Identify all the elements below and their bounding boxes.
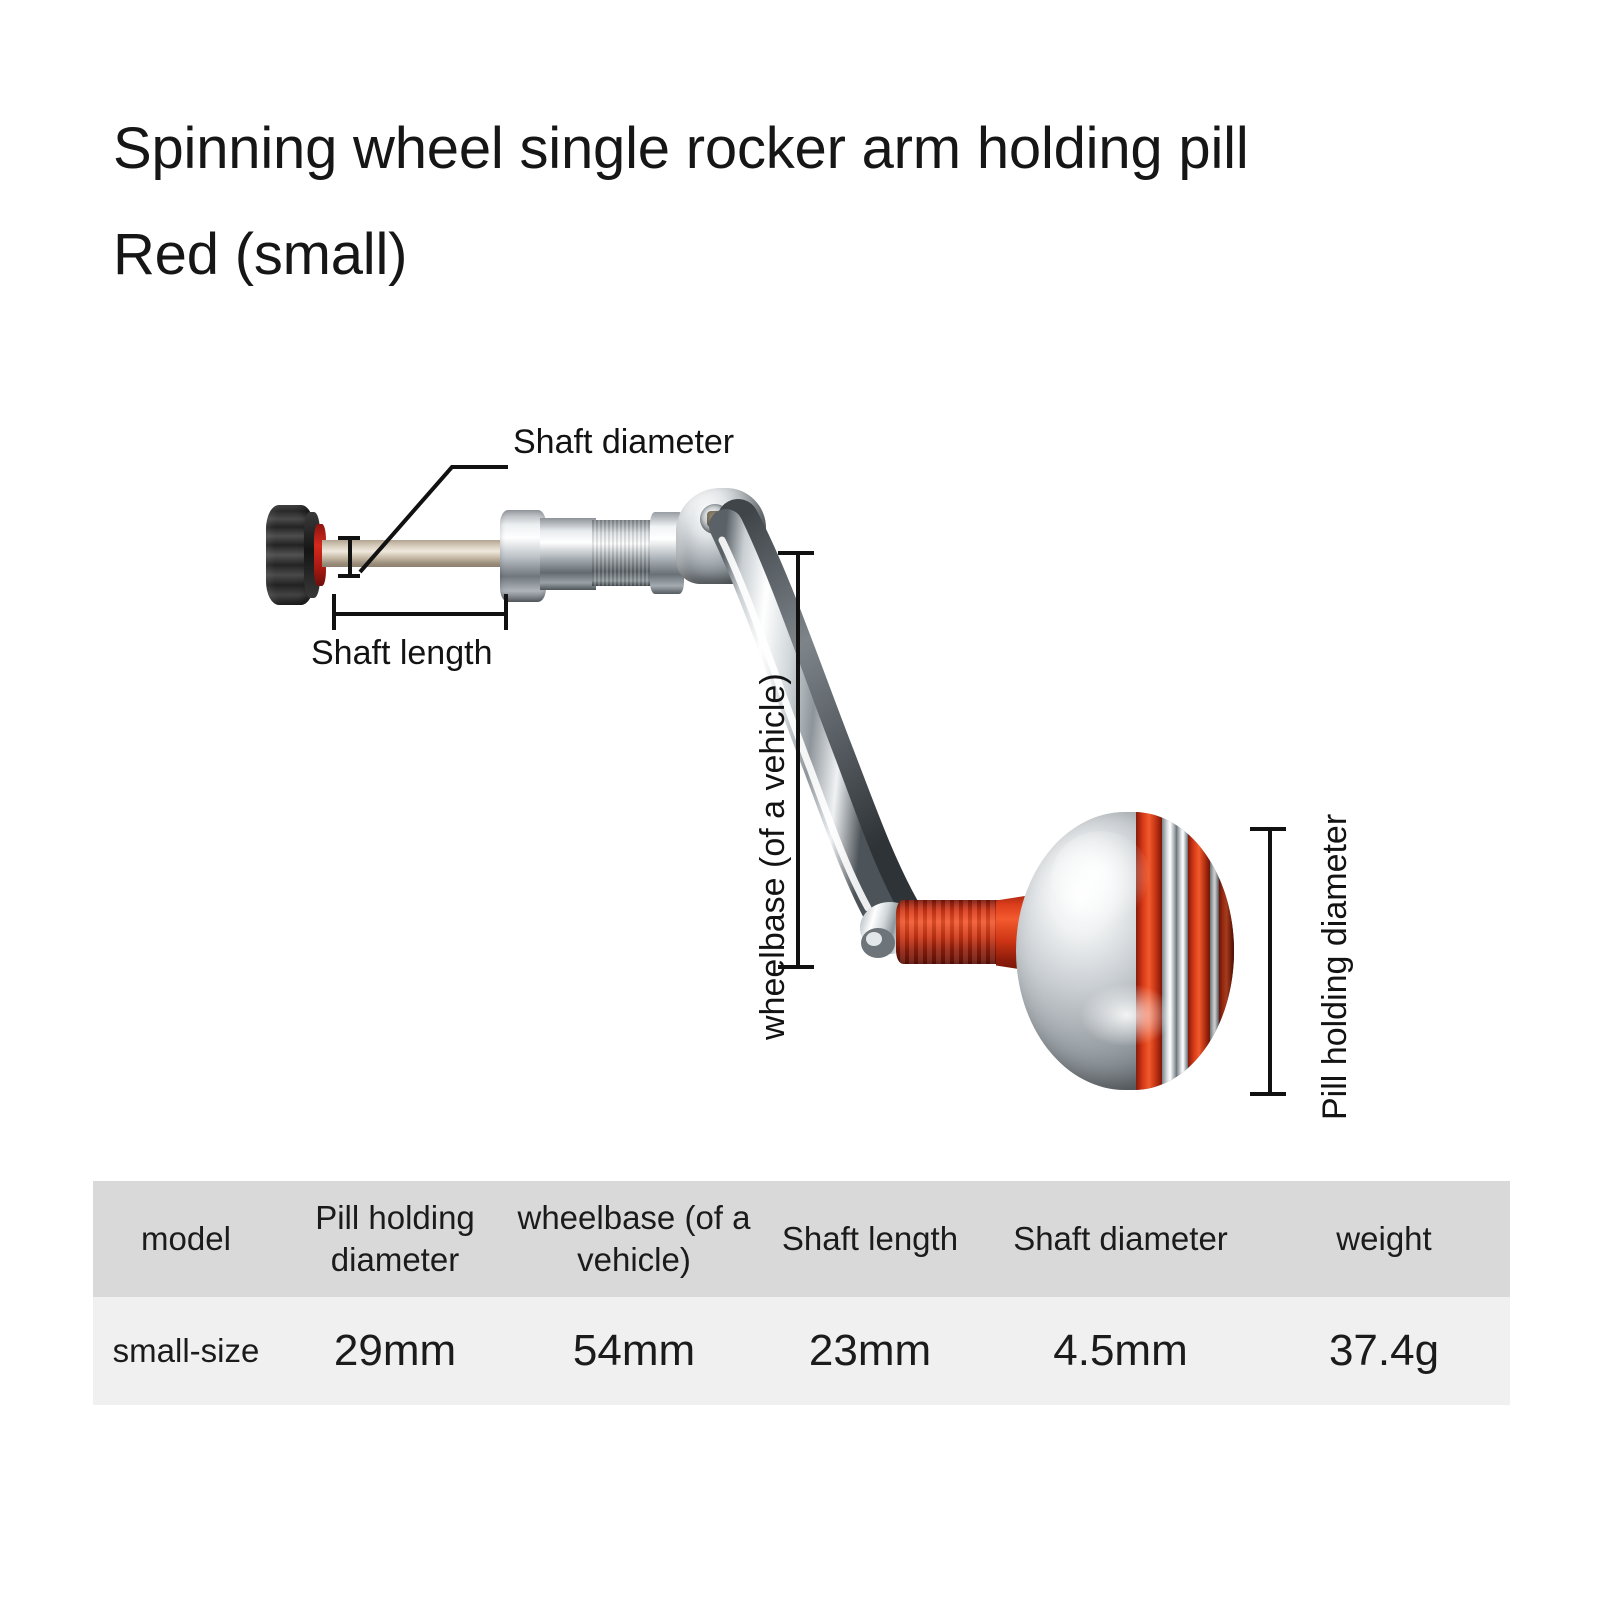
table-header-row: model Pill holding diameter wheelbase (o… [93, 1181, 1510, 1297]
page-title: Spinning wheel single rocker arm holding… [113, 96, 1513, 307]
cell-weight: 37.4g [1258, 1297, 1510, 1405]
page-title-line-2: Red (small) [113, 202, 1513, 308]
spec-table: model Pill holding diameter wheelbase (o… [93, 1181, 1510, 1405]
cell-wheelbase: 54mm [511, 1297, 757, 1405]
col-header-shaft-length: Shaft length [757, 1181, 983, 1297]
pill-holding-diameter-tick-top [1250, 827, 1286, 831]
page-title-line-1: Spinning wheel single rocker arm holding… [113, 96, 1513, 202]
col-header-wheelbase: wheelbase (of a vehicle) [511, 1181, 757, 1297]
col-header-model: model [93, 1181, 279, 1297]
shaft-length-dimension-line [332, 612, 508, 616]
shaft-diameter-tick-bottom [338, 574, 360, 578]
wheelbase-tick-top [778, 551, 814, 555]
shaft-length-tick-right [504, 594, 508, 630]
wheelbase-label: wheelbase (of a vehicle) [756, 673, 790, 1040]
shaft-diameter-leader-line [0, 400, 1600, 1160]
col-header-weight: weight [1258, 1181, 1510, 1297]
table-row: small-size 29mm 54mm 23mm 4.5mm 37.4g [93, 1297, 1510, 1405]
col-header-shaft-diameter: Shaft diameter [983, 1181, 1258, 1297]
cell-model: small-size [93, 1297, 279, 1405]
product-illustration: Shaft diameter Shaft length wheelbase (o… [0, 400, 1600, 1160]
product-spec-page: Spinning wheel single rocker arm holding… [0, 0, 1600, 1600]
pill-holding-diameter-label: Pill holding diameter [1318, 814, 1352, 1120]
col-header-pill-diameter: Pill holding diameter [279, 1181, 511, 1297]
cell-shaft-length: 23mm [757, 1297, 983, 1405]
shaft-diameter-tick [348, 536, 352, 574]
shaft-diameter-tick-top [338, 536, 360, 540]
wheelbase-dimension-line [796, 551, 800, 965]
cell-shaft-diameter: 4.5mm [983, 1297, 1258, 1405]
shaft-diameter-label: Shaft diameter [513, 425, 734, 459]
shaft-length-label: Shaft length [311, 636, 492, 670]
pill-holding-diameter-tick-bottom [1250, 1092, 1286, 1096]
pill-holding-diameter-dimension-line [1268, 827, 1272, 1092]
cell-pill-diameter: 29mm [279, 1297, 511, 1405]
shaft-length-tick-left [332, 594, 336, 630]
